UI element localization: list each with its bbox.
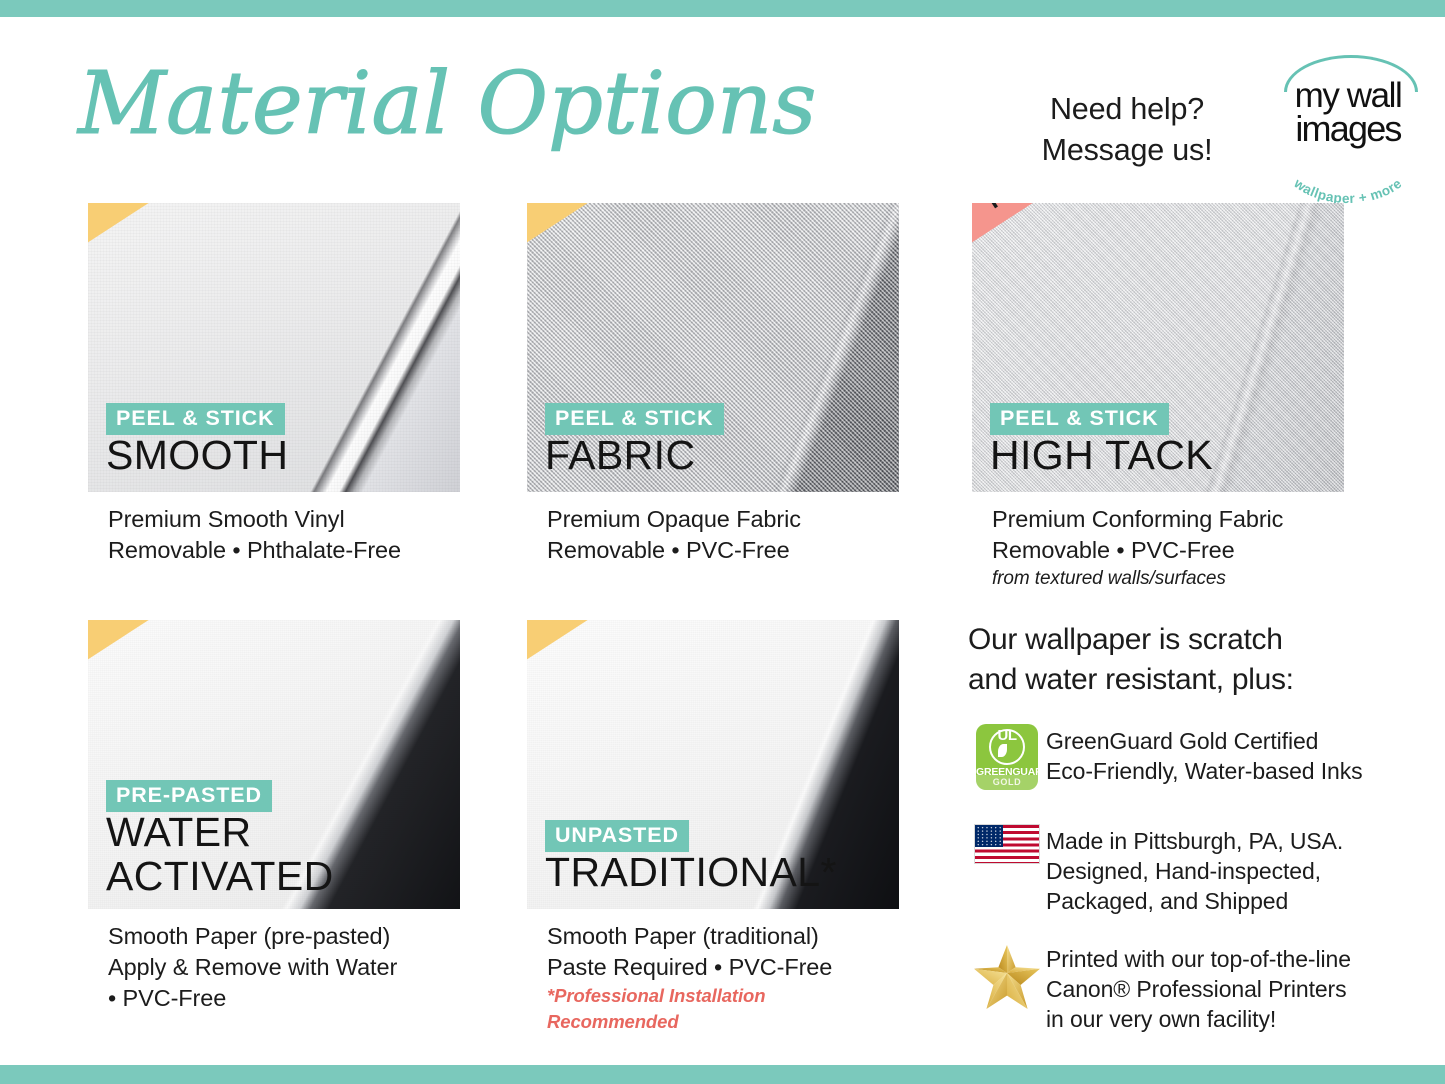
features-panel: Our wallpaper is scratch and water resis… (968, 620, 1388, 1060)
page-title-text: Material Options (76, 54, 816, 154)
feature-row-canon-printers: Printed with our top-of-the-line Canon® … (968, 942, 1388, 1034)
feature-line-2: Designed, Hand-inspected, (1046, 856, 1343, 886)
feature-line-1: Printed with our top-of-the-line (1046, 944, 1351, 974)
desc-line-1: Smooth Paper (traditional) (547, 921, 899, 952)
desc-line-3: • PVC-Free (108, 983, 460, 1014)
material-card-fabric[interactable]: for Smooth Walls PEEL & STICK FABRIC Pre… (527, 203, 899, 566)
features-heading-line-1: Our wallpaper is scratch (968, 620, 1388, 660)
feature-text-canon-printers: Printed with our top-of-the-line Canon® … (1046, 942, 1351, 1034)
card-description-high-tack: Premium Conforming Fabric Removable • PV… (972, 504, 1344, 592)
feature-line-2: Canon® Professional Printers (1046, 974, 1351, 1004)
need-help-line-2: Message us! (1012, 130, 1242, 171)
desc-line-2: Removable • PVC-Free (547, 535, 899, 566)
card-image-high-tack: for Textured Walls PEEL & STICK HIGH TAC… (972, 203, 1344, 492)
badge-peel-and-stick: PEEL & STICK (990, 403, 1169, 435)
desc-line-1: Smooth Paper (pre-pasted) (108, 921, 460, 952)
card-title-fabric: FABRIC (545, 433, 696, 477)
desc-line-2: Removable • Phthalate-Free (108, 535, 460, 566)
feature-line-1: GreenGuard Gold Certified (1046, 726, 1363, 756)
badge-peel-and-stick: PEEL & STICK (545, 403, 724, 435)
card-title-high-tack: HIGH TACK (990, 433, 1213, 477)
features-heading-line-2: and water resistant, plus: (968, 660, 1388, 700)
brand-logo[interactable]: my wall images wallpaper + more (1272, 49, 1424, 189)
need-help-line-1: Need help? (1012, 89, 1242, 130)
material-card-high-tack[interactable]: for Textured Walls PEEL & STICK HIGH TAC… (972, 203, 1344, 592)
desc-line-1: Premium Opaque Fabric (547, 504, 899, 535)
feature-text-made-in-usa: Made in Pittsburgh, PA, USA. Designed, H… (1046, 824, 1343, 916)
us-flag (974, 824, 1040, 864)
card-image-traditional: for Smooth Walls UNPASTED TRADITIONAL* (527, 620, 899, 909)
feature-line-1: Made in Pittsburgh, PA, USA. (1046, 826, 1343, 856)
desc-line-1: Premium Conforming Fabric (992, 504, 1344, 535)
greenguard-level-label: GOLD (976, 775, 1038, 790)
feature-row-greenguard: UL GREENGUARD GOLD GreenGuard Gold Certi… (968, 724, 1388, 798)
feature-row-made-in-usa: Made in Pittsburgh, PA, USA. Designed, H… (968, 824, 1388, 916)
feature-line-2: Eco-Friendly, Water-based Inks (1046, 756, 1363, 786)
desc-line-2: Apply & Remove with Water (108, 952, 460, 983)
material-card-traditional[interactable]: for Smooth Walls UNPASTED TRADITIONAL* S… (527, 620, 899, 1035)
bottom-accent-bar (0, 1065, 1445, 1084)
feature-line-3: Packaged, and Shipped (1046, 886, 1343, 916)
greenguard-gold-icon: UL GREENGUARD GOLD (968, 724, 1046, 798)
card-title-traditional: TRADITIONAL* (545, 850, 837, 894)
card-note-high-tack: from textured walls/surfaces (992, 566, 1344, 592)
ribbon-label: for Textured Walls (981, 203, 1173, 215)
ribbon-label: for Smooth Walls (545, 203, 728, 210)
greenguard-badge: UL GREENGUARD GOLD (976, 724, 1038, 790)
badge-pre-pasted: PRE-PASTED (106, 780, 272, 812)
card-image-water-activated: for Smooth Walls PRE-PASTED WATER ACTIVA… (88, 620, 460, 909)
card-description-smooth: Premium Smooth Vinyl Removable • Phthala… (88, 504, 460, 566)
page-title: Material Options (78, 45, 698, 165)
ribbon-for-smooth-walls: for Smooth Walls (88, 620, 312, 693)
card-description-fabric: Premium Opaque Fabric Removable • PVC-Fr… (527, 504, 899, 566)
features-heading: Our wallpaper is scratch and water resis… (968, 620, 1388, 700)
logo-tagline: wallpaper + more (1272, 153, 1424, 187)
ribbon-label: for Smooth Walls (106, 620, 289, 627)
need-help-block: Need help? Message us! (1012, 89, 1242, 171)
card-title-water-activated: WATER ACTIVATED (106, 810, 436, 898)
ribbon-for-smooth-walls: for Smooth Walls (527, 620, 751, 693)
flag-canton (975, 825, 1003, 847)
card-description-water-activated: Smooth Paper (pre-pasted) Apply & Remove… (88, 921, 460, 1014)
ribbon-for-smooth-walls: for Smooth Walls (88, 203, 312, 276)
ul-label: UL (976, 727, 1038, 744)
card-title-smooth: SMOOTH (106, 433, 288, 477)
top-accent-bar (0, 0, 1445, 17)
card-image-fabric: for Smooth Walls PEEL & STICK FABRIC (527, 203, 899, 492)
ribbon-label: for Smooth Walls (545, 620, 728, 627)
card-note-traditional: *Professional Installation Recommended (547, 983, 899, 1035)
logo-wordmark: my wall images (1272, 79, 1424, 145)
page-header: Material Options Need help? Message us! … (0, 17, 1445, 197)
desc-line-2: Removable • PVC-Free (992, 535, 1344, 566)
badge-unpasted: UNPASTED (545, 820, 689, 852)
ribbon-for-smooth-walls: for Smooth Walls (527, 203, 751, 276)
material-card-smooth[interactable]: for Smooth Walls PEEL & STICK SMOOTH Pre… (88, 203, 460, 566)
ribbon-label: for Smooth Walls (106, 203, 289, 210)
desc-line-1: Premium Smooth Vinyl (108, 504, 460, 535)
feature-text-greenguard: GreenGuard Gold Certified Eco-Friendly, … (1046, 724, 1363, 786)
logo-tagline-text: wallpaper + more (1291, 175, 1405, 206)
material-card-water-activated[interactable]: for Smooth Walls PRE-PASTED WATER ACTIVA… (88, 620, 460, 1014)
logo-line-2: images (1272, 112, 1424, 145)
desc-line-2: Paste Required • PVC-Free (547, 952, 899, 983)
gold-star-icon (968, 942, 1046, 1016)
card-description-traditional: Smooth Paper (traditional) Paste Require… (527, 921, 899, 1035)
ribbon-for-textured-walls: for Textured Walls (972, 203, 1196, 276)
us-flag-icon (968, 824, 1046, 898)
feature-line-3: in our very own facility! (1046, 1004, 1351, 1034)
card-image-smooth: for Smooth Walls PEEL & STICK SMOOTH (88, 203, 460, 492)
gold-star (971, 942, 1043, 1012)
badge-peel-and-stick: PEEL & STICK (106, 403, 285, 435)
